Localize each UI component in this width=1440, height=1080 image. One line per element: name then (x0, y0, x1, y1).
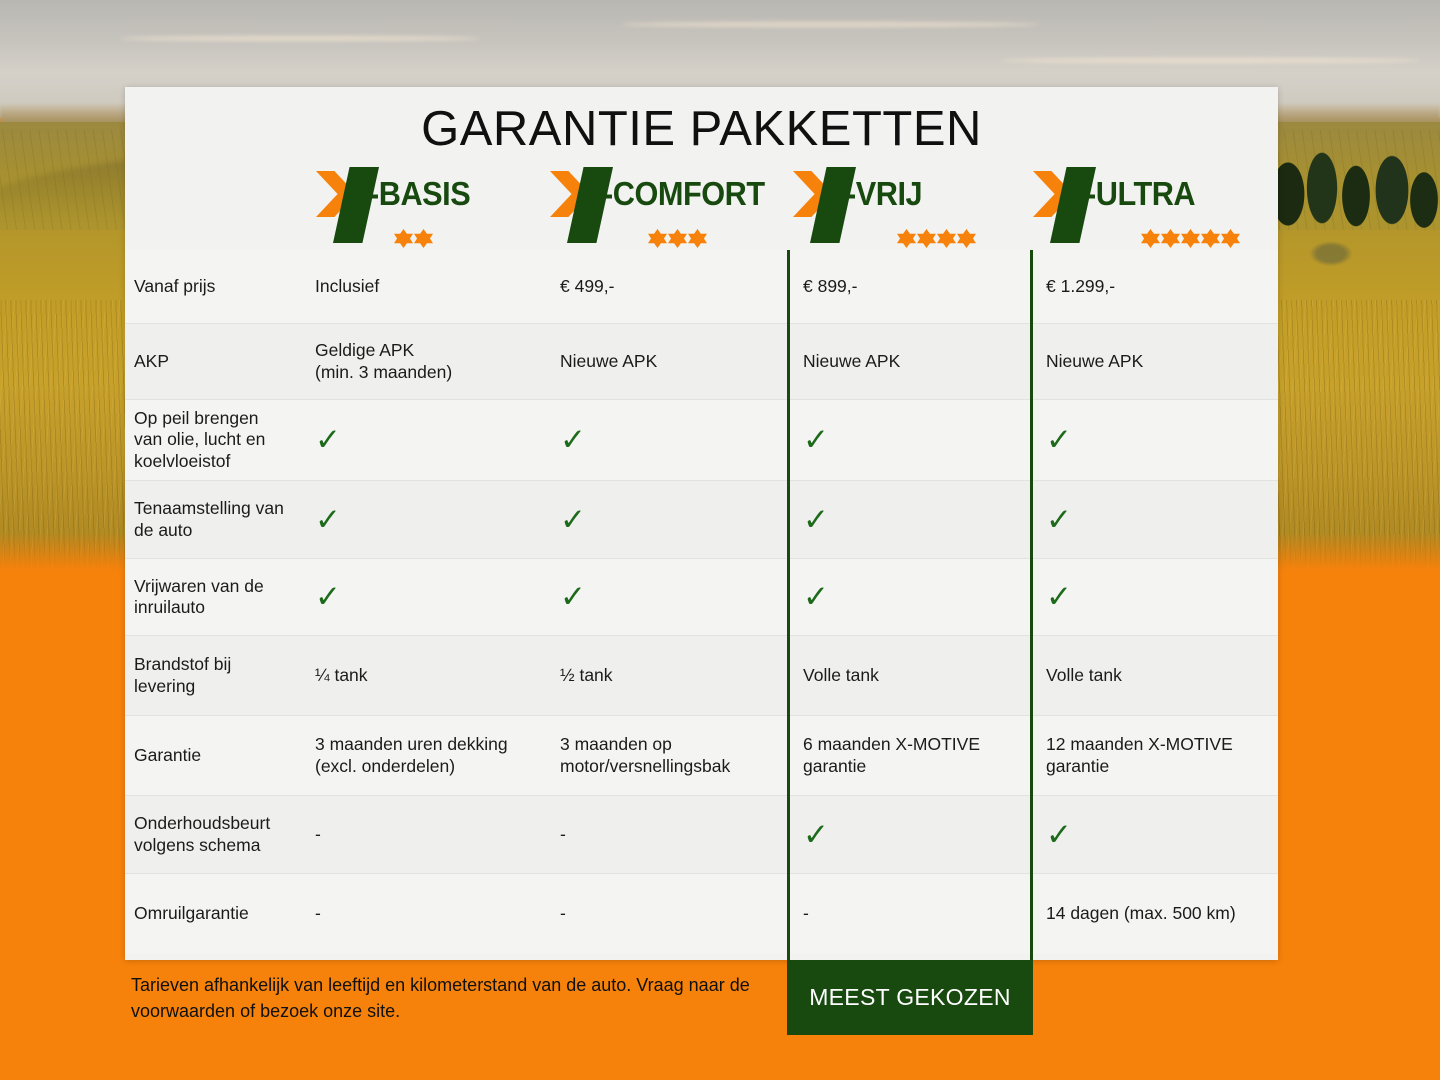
pricing-card: GARANTIE PAKKETTEN -BASIS-COMFORT-VRIJ-U… (125, 87, 1278, 960)
row-label: Brandstof bijlevering (125, 654, 305, 697)
check-icon: ✓ (803, 422, 829, 457)
table-row: Op peil brengenvan olie, lucht enkoelvlo… (125, 399, 1278, 480)
highlight-border-left (787, 250, 790, 960)
table-row: Vrijwaren van deinruilauto✓✓✓✓ (125, 558, 1278, 635)
check-icon: ✓ (1046, 502, 1072, 537)
cell-x-comfort: ✓ (550, 504, 793, 535)
highlight-border-right (1030, 250, 1033, 960)
star-icon (1201, 229, 1220, 248)
cell-x-ultra: € 1.299,- (1036, 276, 1278, 297)
cell-x-ultra: Nieuwe APK (1036, 351, 1278, 372)
cell-x-ultra: 14 dagen (max. 500 km) (1036, 903, 1278, 924)
row-label: Tenaamstelling vande auto (125, 498, 305, 541)
cell-x-basis: Inclusief (305, 276, 550, 297)
table-row: Omruilgarantie---14 dagen (max. 500 km) (125, 873, 1278, 953)
check-icon: ✓ (1046, 817, 1072, 852)
cell-x-vrij: 6 maanden X-MOTIVEgarantie (793, 734, 1036, 777)
cell-x-basis: Geldige APK(min. 3 maanden) (305, 340, 550, 383)
row-label: AKP (125, 351, 305, 372)
cell-x-ultra: 12 maanden X-MOTIVEgarantie (1036, 734, 1278, 777)
not-included-dash: - (315, 824, 321, 844)
star-rating-5 (1141, 229, 1241, 248)
cell-x-comfort: ✓ (550, 581, 793, 612)
check-icon: ✓ (1046, 422, 1072, 457)
cell-x-vrij: ✓ (793, 424, 1036, 455)
star-icon (648, 229, 667, 248)
row-label: Vrijwaren van deinruilauto (125, 576, 305, 619)
check-icon: ✓ (560, 502, 586, 537)
star-icon (688, 229, 707, 248)
star-icon (1221, 229, 1240, 248)
cell-x-vrij: Volle tank (793, 665, 1036, 686)
page-title: GARANTIE PAKKETTEN (125, 87, 1278, 157)
package-name: -ULTRA (1086, 175, 1195, 213)
star-icon (1161, 229, 1180, 248)
star-icon (937, 229, 956, 248)
cell-x-ultra: ✓ (1036, 504, 1278, 535)
cell-x-basis: ✓ (305, 424, 550, 455)
cell-x-ultra: ✓ (1036, 581, 1278, 612)
not-included-dash: - (560, 903, 566, 923)
star-icon (668, 229, 687, 248)
cell-x-ultra: ✓ (1036, 819, 1278, 850)
not-included-dash: - (803, 903, 809, 923)
table-row: Brandstof bijlevering¼ tank½ tankVolle t… (125, 635, 1278, 715)
cell-x-comfort: ✓ (550, 424, 793, 455)
cell-x-vrij: Nieuwe APK (793, 351, 1036, 372)
star-icon (414, 229, 433, 248)
cloud-streak (1000, 58, 1420, 63)
package-logo-row: -BASIS-COMFORT-VRIJ-ULTRA (125, 165, 1278, 257)
cell-x-comfort: - (550, 824, 793, 845)
slide-root: GARANTIE PAKKETTEN -BASIS-COMFORT-VRIJ-U… (0, 0, 1440, 1080)
star-rating-4 (897, 229, 977, 248)
check-icon: ✓ (315, 422, 341, 457)
row-label: Vanaf prijs (125, 276, 305, 297)
table-row: AKPGeldige APK(min. 3 maanden)Nieuwe APK… (125, 323, 1278, 399)
table-row: Tenaamstelling vande auto✓✓✓✓ (125, 480, 1278, 558)
cloud-streak (620, 22, 1040, 27)
cell-x-basis: - (305, 903, 550, 924)
row-label: Op peil brengenvan olie, lucht enkoelvlo… (125, 408, 305, 472)
check-icon: ✓ (560, 422, 586, 457)
check-icon: ✓ (315, 579, 341, 614)
cell-x-basis: - (305, 824, 550, 845)
package-name: -BASIS (369, 175, 470, 213)
table-row: Garantie3 maanden uren dekking(excl. ond… (125, 715, 1278, 795)
star-icon (1141, 229, 1160, 248)
check-icon: ✓ (803, 817, 829, 852)
package-name: -COMFORT (603, 175, 765, 213)
star-icon (1181, 229, 1200, 248)
not-included-dash: - (315, 903, 321, 923)
cell-x-vrij: ✓ (793, 581, 1036, 612)
check-icon: ✓ (315, 502, 341, 537)
check-icon: ✓ (560, 579, 586, 614)
table-row: Vanaf prijsInclusief€ 499,-€ 899,-€ 1.29… (125, 250, 1278, 323)
cell-x-basis: ✓ (305, 581, 550, 612)
cell-x-basis: ¼ tank (305, 665, 550, 686)
table-row: Onderhoudsbeurtvolgens schema--✓✓ (125, 795, 1278, 873)
row-label: Onderhoudsbeurtvolgens schema (125, 813, 305, 856)
star-rating-2 (394, 229, 434, 248)
comparison-table: Vanaf prijsInclusief€ 499,-€ 899,-€ 1.29… (125, 250, 1278, 953)
cell-x-vrij: ✓ (793, 819, 1036, 850)
footer-disclaimer: Tarieven afhankelijk van leeftijd en kil… (131, 972, 771, 1024)
star-icon (917, 229, 936, 248)
star-icon (957, 229, 976, 248)
package-name: -VRIJ (846, 175, 922, 213)
cell-x-vrij: ✓ (793, 504, 1036, 535)
star-icon (394, 229, 413, 248)
cell-x-vrij: - (793, 903, 1036, 924)
cell-x-basis: 3 maanden uren dekking(excl. onderdelen) (305, 734, 550, 777)
check-icon: ✓ (803, 502, 829, 537)
check-icon: ✓ (1046, 579, 1072, 614)
cell-x-comfort: € 499,- (550, 276, 793, 297)
check-icon: ✓ (803, 579, 829, 614)
cell-x-basis: ✓ (305, 504, 550, 535)
cell-x-comfort: Nieuwe APK (550, 351, 793, 372)
cell-x-vrij: € 899,- (793, 276, 1036, 297)
not-included-dash: - (560, 824, 566, 844)
cell-x-ultra: ✓ (1036, 424, 1278, 455)
star-rating-3 (648, 229, 708, 248)
row-label: Omruilgarantie (125, 903, 305, 924)
cell-x-comfort: - (550, 903, 793, 924)
cell-x-comfort: 3 maanden opmotor/versnellingsbak (550, 734, 793, 777)
star-icon (897, 229, 916, 248)
most-chosen-badge[interactable]: MEEST GEKOZEN (787, 960, 1033, 1035)
cloud-streak (120, 36, 480, 41)
most-chosen-label: MEEST GEKOZEN (809, 984, 1011, 1011)
cell-x-ultra: Volle tank (1036, 665, 1278, 686)
bush (1300, 232, 1362, 268)
cell-x-comfort: ½ tank (550, 665, 793, 686)
row-label: Garantie (125, 745, 305, 766)
